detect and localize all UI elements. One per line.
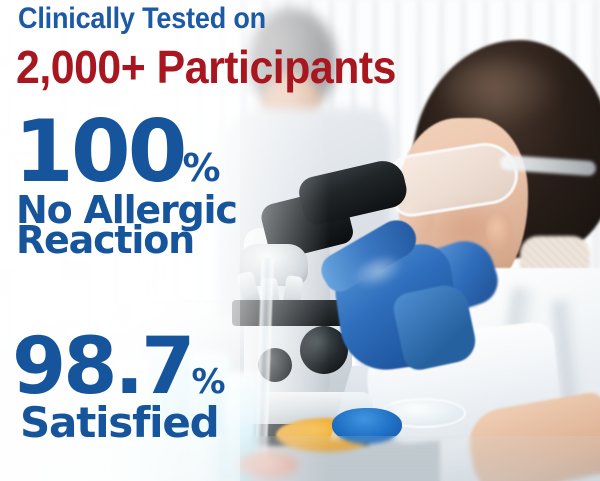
stat-no-allergic-reaction: 100% No Allergic Reaction [14, 116, 237, 258]
text-overlay: Clinically Tested on 2,000+ Participants… [0, 0, 600, 481]
headline-line-1: Clinically Tested on [18, 4, 266, 34]
percent-sign-icon: % [191, 365, 224, 399]
stat-number-98-7: 98.7 [12, 334, 192, 401]
stat-value-row: 98.7% [12, 334, 225, 401]
stat-number-100: 100 [14, 116, 185, 190]
stat-satisfied: 98.7% Satisfied [12, 334, 225, 443]
stat-value-row: 100% [14, 116, 237, 190]
headline-line-2-participants: 2,000+ Participants [16, 44, 396, 90]
stat-caption-satisfied: Satisfied [20, 403, 225, 443]
percent-sign-icon: % [183, 149, 220, 187]
promo-banner: Clinically Tested on 2,000+ Participants… [0, 0, 600, 481]
